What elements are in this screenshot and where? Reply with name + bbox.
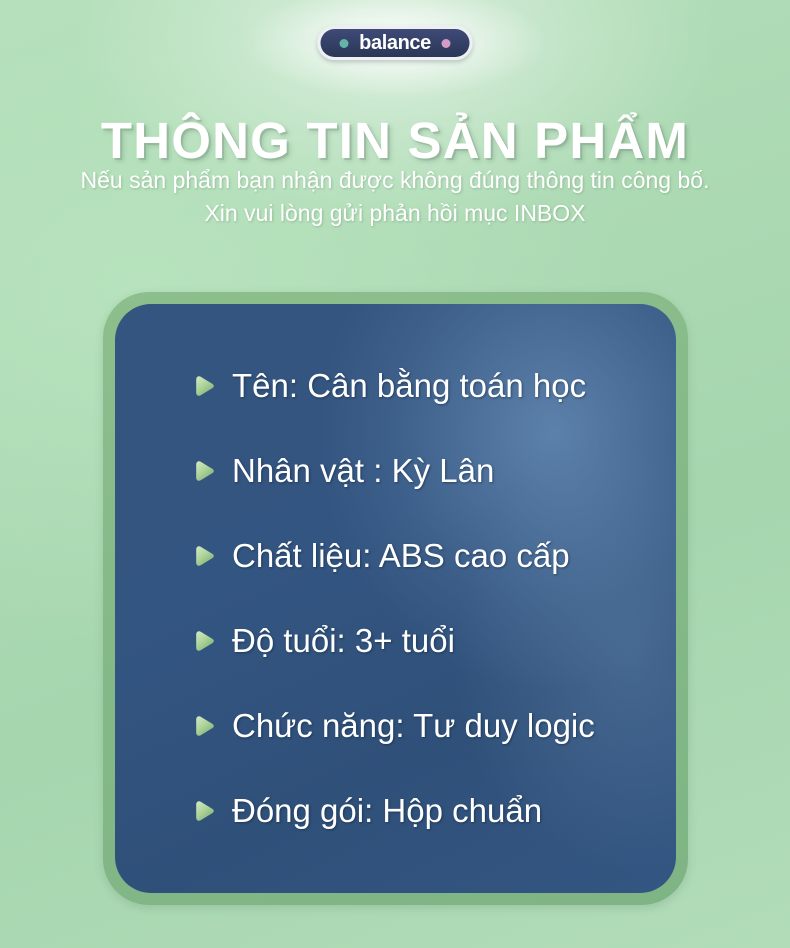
brand-logo-pill[interactable]: balance: [318, 26, 473, 60]
subtitle-line-2: Xin vui lòng gửi phản hồi mục INBOX: [0, 197, 790, 230]
list-item: Tên: Cân bằng toán học: [193, 344, 676, 429]
page-title: THÔNG TIN SẢN PHẨM: [0, 112, 790, 169]
play-triangle-bullet-icon: [193, 800, 216, 822]
product-info-card-body: Tên: Cân bằng toán học Nhân vật : Kỳ Lân…: [115, 304, 676, 893]
list-item-label: Độ tuổi: 3+ tuổi: [232, 623, 455, 659]
list-item: Nhân vật : Kỳ Lân: [193, 429, 676, 514]
play-triangle-bullet-icon: [193, 630, 216, 652]
pink-dot-icon: [442, 39, 451, 48]
list-item-label: Tên: Cân bằng toán học: [232, 368, 586, 404]
play-triangle-bullet-icon: [193, 715, 216, 737]
list-item-label: Chất liệu: ABS cao cấp: [232, 538, 570, 574]
teal-dot-icon: [339, 39, 348, 48]
list-item-label: Chức năng: Tư duy logic: [232, 708, 595, 744]
product-spec-list: Tên: Cân bằng toán học Nhân vật : Kỳ Lân…: [193, 344, 676, 854]
play-triangle-bullet-icon: [193, 460, 216, 482]
list-item: Độ tuổi: 3+ tuổi: [193, 599, 676, 684]
list-item-label: Nhân vật : Kỳ Lân: [232, 453, 494, 489]
list-item: Chức năng: Tư duy logic: [193, 684, 676, 769]
list-item-label: Đóng gói: Hộp chuẩn: [232, 793, 542, 829]
play-triangle-bullet-icon: [193, 545, 216, 567]
list-item: Chất liệu: ABS cao cấp: [193, 514, 676, 599]
list-item: Đóng gói: Hộp chuẩn: [193, 769, 676, 854]
subtitle-line-1: Nếu sản phẩm bạn nhận được không đúng th…: [0, 164, 790, 197]
play-triangle-bullet-icon: [193, 375, 216, 397]
product-info-card: Tên: Cân bằng toán học Nhân vật : Kỳ Lân…: [103, 292, 688, 905]
brand-name: balance: [359, 33, 431, 53]
page-subtitle: Nếu sản phẩm bạn nhận được không đúng th…: [0, 164, 790, 229]
